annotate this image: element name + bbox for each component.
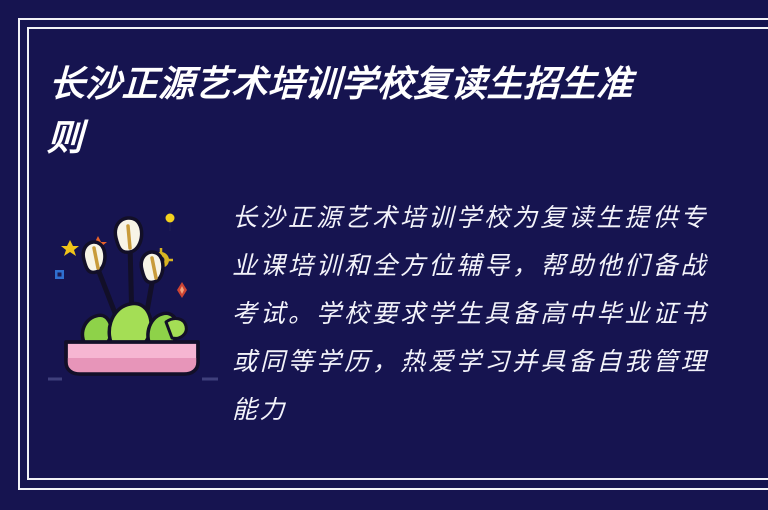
body-text-block: 长沙正源艺术培训学校为复读生提供专业课培训和全方位辅导，帮助他们备战考试。学校要… xyxy=(232,190,708,434)
calla-flower-center xyxy=(115,218,141,252)
potted-plant-illustration xyxy=(48,198,218,383)
title-block: 长沙正源艺术培训学校复读生招生准则 xyxy=(48,58,658,166)
calla-flower-right xyxy=(141,252,163,282)
sparkle-yellow-dot xyxy=(166,214,175,232)
sparkle-yellow-star xyxy=(61,240,79,256)
calla-flower-left xyxy=(83,242,105,272)
poster-canvas: 长沙正源艺术培训学校复读生招生准则 xyxy=(0,0,768,510)
body-paragraph: 长沙正源艺术培训学校为复读生提供专业课培训和全方位辅导，帮助他们备战考试。学校要… xyxy=(232,194,708,434)
content-row: 长沙正源艺术培训学校为复读生提供专业课培训和全方位辅导，帮助他们备战考试。学校要… xyxy=(48,190,708,434)
page-title: 长沙正源艺术培训学校复读生招生准则 xyxy=(46,58,660,166)
flower-pot xyxy=(66,342,198,374)
sparkle-blue-square xyxy=(55,270,64,279)
sparkle-red-diamond xyxy=(177,282,187,298)
